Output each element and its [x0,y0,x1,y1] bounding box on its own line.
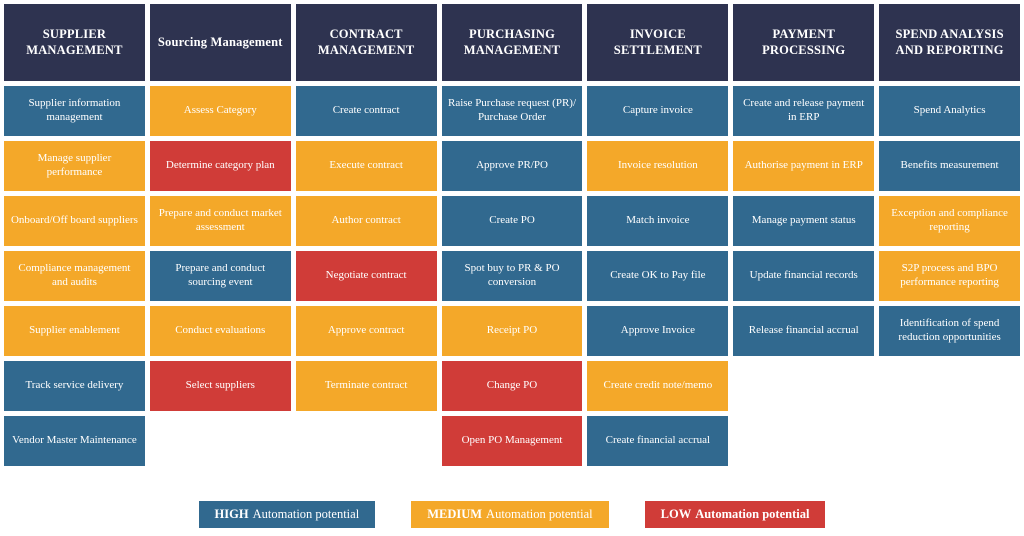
column-header: INVOICE SETTLEMENT [587,4,728,81]
process-column: CONTRACT MANAGEMENTCreate contractExecut… [296,4,437,411]
legend-item-high: HIGHAutomation potential [199,501,376,528]
process-step-cell[interactable]: Update financial records [733,251,874,301]
legend-level-label: MEDIUM [427,507,482,522]
process-step-cell[interactable]: Spot buy to PR & PO conversion [442,251,583,301]
process-step-cell[interactable]: Authorise payment in ERP [733,141,874,191]
process-step-cell[interactable]: Determine category plan [150,141,291,191]
process-step-cell[interactable]: Conduct evaluations [150,306,291,356]
process-step-cell[interactable]: Invoice resolution [587,141,728,191]
process-step-cell[interactable]: Benefits measurement [879,141,1020,191]
column-header: PURCHASING MANAGEMENT [442,4,583,81]
process-step-cell[interactable]: Manage payment status [733,196,874,246]
legend: HIGHAutomation potentialMEDIUMAutomation… [0,501,1024,528]
process-step-cell[interactable]: Spend Analytics [879,86,1020,136]
process-step-cell[interactable]: Approve PR/PO [442,141,583,191]
process-column: PURCHASING MANAGEMENTRaise Purchase requ… [442,4,583,466]
process-step-cell[interactable]: Negotiate contract [296,251,437,301]
process-step-cell[interactable]: Supplier information management [4,86,145,136]
process-step-cell[interactable]: Create financial accrual [587,416,728,466]
process-columns: SUPPLIER MANAGEMENTSupplier information … [4,4,1020,466]
legend-item-medium: MEDIUMAutomation potential [411,501,608,528]
process-step-cell[interactable]: Track service delivery [4,361,145,411]
process-step-cell[interactable]: Select suppliers [150,361,291,411]
column-header: PAYMENT PROCESSING [733,4,874,81]
process-step-cell[interactable]: Create OK to Pay file [587,251,728,301]
process-step-cell[interactable]: Prepare and conduct sourcing event [150,251,291,301]
legend-description: Automation potential [486,507,593,522]
process-step-cell[interactable]: Capture invoice [587,86,728,136]
process-step-cell[interactable]: S2P process and BPO performance reportin… [879,251,1020,301]
process-step-cell[interactable]: Create contract [296,86,437,136]
process-step-cell[interactable]: Identification of spend reduction opport… [879,306,1020,356]
process-step-cell[interactable]: Manage supplier performance [4,141,145,191]
process-column: Sourcing ManagementAssess CategoryDeterm… [150,4,291,411]
process-step-cell[interactable]: Execute contract [296,141,437,191]
legend-description: Automation potential [695,507,809,522]
process-step-cell[interactable]: Receipt PO [442,306,583,356]
process-step-cell[interactable]: Approve contract [296,306,437,356]
column-header: Sourcing Management [150,4,291,81]
legend-level-label: HIGH [215,507,249,522]
column-header: SUPPLIER MANAGEMENT [4,4,145,81]
process-column: PAYMENT PROCESSINGCreate and release pay… [733,4,874,356]
legend-level-label: LOW [661,507,692,522]
process-step-cell[interactable]: Terminate contract [296,361,437,411]
automation-potential-matrix: SUPPLIER MANAGEMENTSupplier information … [0,0,1024,536]
process-step-cell[interactable]: Open PO Management [442,416,583,466]
column-header: CONTRACT MANAGEMENT [296,4,437,81]
process-step-cell[interactable]: Vendor Master Maintenance [4,416,145,466]
process-step-cell[interactable]: Onboard/Off board suppliers [4,196,145,246]
process-step-cell[interactable]: Supplier enablement [4,306,145,356]
process-column: SPEND ANALYSIS AND REPORTINGSpend Analyt… [879,4,1020,356]
process-step-cell[interactable]: Create credit note/memo [587,361,728,411]
process-step-cell[interactable]: Change PO [442,361,583,411]
process-step-cell[interactable]: Exception and compliance reporting [879,196,1020,246]
process-step-cell[interactable]: Compliance management and audits [4,251,145,301]
process-step-cell[interactable]: Match invoice [587,196,728,246]
legend-description: Automation potential [253,507,360,522]
process-step-cell[interactable]: Release financial accrual [733,306,874,356]
process-step-cell[interactable]: Create and release payment in ERP [733,86,874,136]
process-step-cell[interactable]: Author contract [296,196,437,246]
process-step-cell[interactable]: Create PO [442,196,583,246]
process-step-cell[interactable]: Assess Category [150,86,291,136]
process-step-cell[interactable]: Approve Invoice [587,306,728,356]
process-step-cell[interactable]: Raise Purchase request (PR)/ Purchase Or… [442,86,583,136]
process-column: INVOICE SETTLEMENTCapture invoiceInvoice… [587,4,728,466]
column-header: SPEND ANALYSIS AND REPORTING [879,4,1020,81]
process-column: SUPPLIER MANAGEMENTSupplier information … [4,4,145,466]
process-step-cell[interactable]: Prepare and conduct market assessment [150,196,291,246]
legend-item-low: LOWAutomation potential [645,501,826,528]
